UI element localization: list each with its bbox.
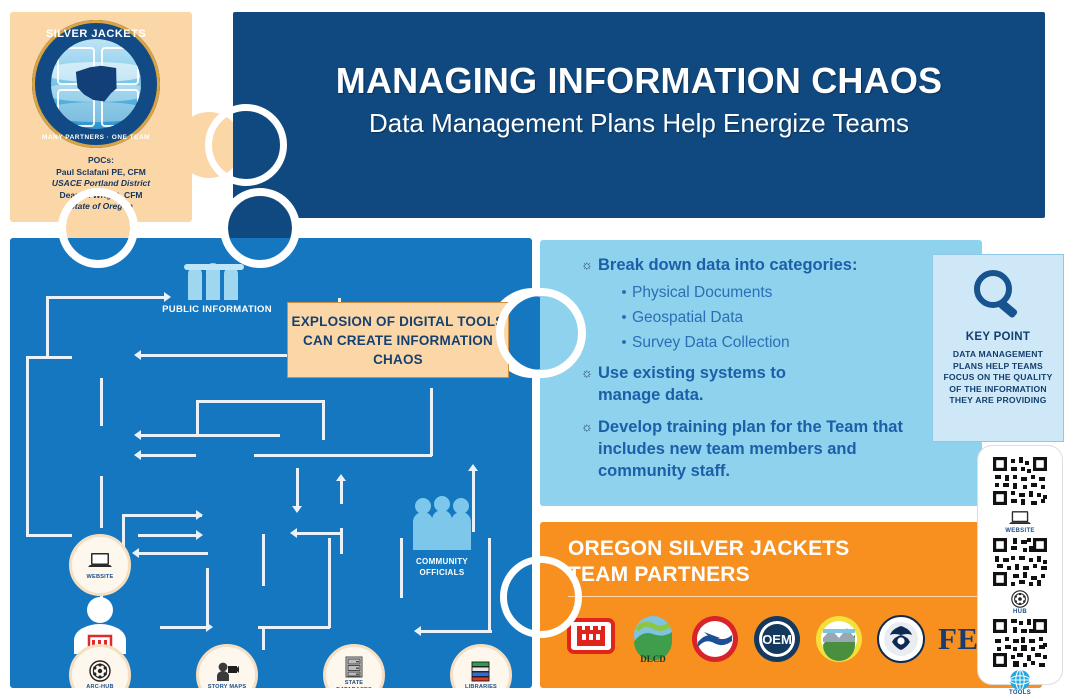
qr-block-tools[interactable]: TOOLS (991, 617, 1049, 696)
connector (100, 378, 103, 426)
diagram-top-socket-right (220, 188, 300, 268)
qr-label-tools: TOOLS (1009, 690, 1031, 696)
partners-title-line-2: TEAM PARTNERS (568, 562, 850, 588)
bullet-item: ☼ Use existing systems to manage data. (576, 362, 944, 406)
state-seal-logo (814, 614, 864, 664)
qr-label-website: WEBSITE (1005, 528, 1034, 534)
explosion-callout: EXPLOSION OF DIGITAL TOOLS CAN CREATE IN… (287, 302, 509, 378)
sub-bullet-text: Geospatial Data (632, 307, 743, 329)
sun-bullet-icon: ☼ (576, 416, 598, 438)
bullet-text: Break down data into categories: (598, 254, 857, 276)
arrow (414, 626, 421, 636)
books-icon (469, 660, 493, 682)
key-point-title: KEY POINT (966, 331, 1030, 343)
arrow (132, 548, 139, 558)
dot-bullet-icon: • (616, 307, 632, 329)
arrow (468, 464, 478, 471)
connector (100, 476, 103, 528)
sub-bullet-item: • Geospatial Data (576, 307, 944, 329)
silver-jackets-seal: SILVER JACKETS MANY PARTNERS · ONE TEAM (32, 20, 160, 148)
key-point-box: KEY POINT DATA MANAGEMENT PLANS HELP TEA… (932, 254, 1064, 442)
connector (46, 296, 49, 358)
arrow (196, 530, 203, 540)
svg-text:OEM: OEM (762, 632, 792, 647)
sub-bullet-item: • Survey Data Collection (576, 332, 944, 354)
connector (138, 552, 208, 555)
dot-bullet-icon: • (616, 332, 632, 354)
arrow (290, 528, 297, 538)
poc-line-1: Paul Sclafani PE, CFM (10, 167, 192, 179)
page-title: MANAGING INFORMATION CHAOS (233, 58, 1045, 104)
sun-bullet-icon: ☼ (576, 254, 598, 276)
node-label: STORY MAPS (208, 684, 247, 689)
hub-icon (89, 660, 111, 682)
bullet-text: Develop training plan for the Team that … (598, 416, 908, 482)
node-label: STATE DATABASES (326, 680, 382, 688)
public-information-label: PUBLIC INFORMATION (162, 304, 272, 315)
arrow (336, 474, 346, 481)
node-storymaps[interactable]: STORY MAPS (196, 644, 258, 688)
sub-bullet-text: Survey Data Collection (632, 332, 790, 354)
arrow (292, 506, 302, 513)
partners-left-socket (500, 556, 582, 638)
connector (340, 528, 343, 554)
connector (140, 454, 196, 457)
laptop-icon (88, 550, 112, 572)
partner-logo-row: DLCD OEM (566, 606, 1016, 672)
connector (26, 356, 72, 359)
node-website[interactable]: WEBSITE (69, 534, 131, 596)
connector (420, 630, 492, 633)
globe-grid-icon (1009, 671, 1031, 689)
connector (430, 388, 433, 456)
partners-divider (568, 596, 1008, 597)
qr-code-website[interactable] (991, 455, 1049, 507)
magnifier-icon (969, 267, 1027, 325)
connector (26, 356, 29, 536)
file-cabinet-icon (345, 656, 363, 678)
connector (138, 534, 200, 537)
community-officials-icon (410, 496, 474, 552)
connector (196, 400, 199, 436)
partners-title-line-1: OREGON SILVER JACKETS (568, 536, 850, 562)
connector (488, 538, 491, 632)
seal-bottom-text: MANY PARTNERS · ONE TEAM (32, 134, 160, 141)
connector (328, 538, 331, 628)
qr-code-tools[interactable] (991, 617, 1049, 669)
oregon-oem-logo: OEM (752, 614, 802, 664)
svg-text:DLCD: DLCD (640, 654, 666, 664)
node-label: LIBRARIES (465, 684, 497, 689)
poster-canvas: SILVER JACKETS MANY PARTNERS · ONE TEAM … (0, 0, 1082, 700)
node-label: WEBSITE (87, 574, 114, 581)
qr-code-hub[interactable] (991, 536, 1049, 588)
connector (262, 534, 265, 586)
laptop-icon (1009, 509, 1031, 527)
oregon-dlcd-logo: DLCD (628, 614, 678, 664)
camera-person-icon (215, 660, 239, 682)
qr-card: WEBSITE (978, 446, 1062, 684)
bullet-item: ☼ Break down data into categories: (576, 254, 944, 276)
connector (26, 534, 72, 537)
dhs-seal-logo (876, 614, 926, 664)
arrow (134, 350, 141, 360)
connector (340, 478, 343, 504)
connector (160, 626, 210, 629)
community-officials-label: COMMUNITY OFFICIALS (396, 556, 488, 578)
national-weather-service-logo (690, 614, 740, 664)
node-libraries[interactable]: LIBRARIES (450, 644, 512, 688)
title-block: MANAGING INFORMATION CHAOS Data Manageme… (233, 58, 1045, 142)
connector (122, 514, 202, 517)
connector (262, 626, 265, 650)
page-subtitle: Data Management Plans Help Energize Team… (233, 104, 1045, 142)
partners-title: OREGON SILVER JACKETS TEAM PARTNERS (568, 536, 850, 588)
arrow (164, 292, 171, 302)
qr-block-hub[interactable]: HUB (991, 536, 1049, 615)
connector (296, 532, 340, 535)
seal-top-text: SILVER JACKETS (32, 28, 160, 40)
arrow (134, 430, 141, 440)
sub-bullet-text: Physical Documents (632, 282, 772, 304)
sub-bullet-item: • Physical Documents (576, 282, 944, 304)
arrow (196, 510, 203, 520)
node-label: ARC-HUB (86, 684, 114, 689)
bullet-item: ☼ Develop training plan for the Team tha… (576, 416, 944, 482)
connector (296, 468, 299, 510)
bullet-text: Use existing systems to manage data. (598, 362, 838, 406)
bullets-left-socket (496, 288, 586, 378)
connector (258, 626, 330, 629)
hub-icon (1011, 590, 1029, 608)
public-information-icon (180, 260, 252, 302)
qr-block-website[interactable]: WEBSITE (991, 455, 1049, 534)
connector (254, 454, 432, 457)
connector (206, 568, 209, 626)
dot-bullet-icon: • (616, 282, 632, 304)
sun-bullet-icon: ☼ (576, 362, 598, 384)
arrow (206, 622, 213, 632)
node-statedatabases[interactable]: STATE DATABASES (323, 644, 385, 688)
bullets-panel: ☼ Break down data into categories: • Phy… (540, 240, 982, 506)
connector (140, 434, 280, 437)
poc-heading: POCs: (10, 155, 192, 167)
key-point-body: DATA MANAGEMENT PLANS HELP TEAMS FOCUS O… (933, 349, 1063, 407)
partners-panel: OREGON SILVER JACKETS TEAM PARTNERS (540, 522, 1042, 688)
diagram-top-socket-left (58, 188, 138, 268)
connector (196, 400, 324, 403)
connector (46, 296, 166, 299)
arrow (134, 450, 141, 460)
connector (322, 400, 325, 440)
qr-label-hub: HUB (1013, 609, 1027, 615)
